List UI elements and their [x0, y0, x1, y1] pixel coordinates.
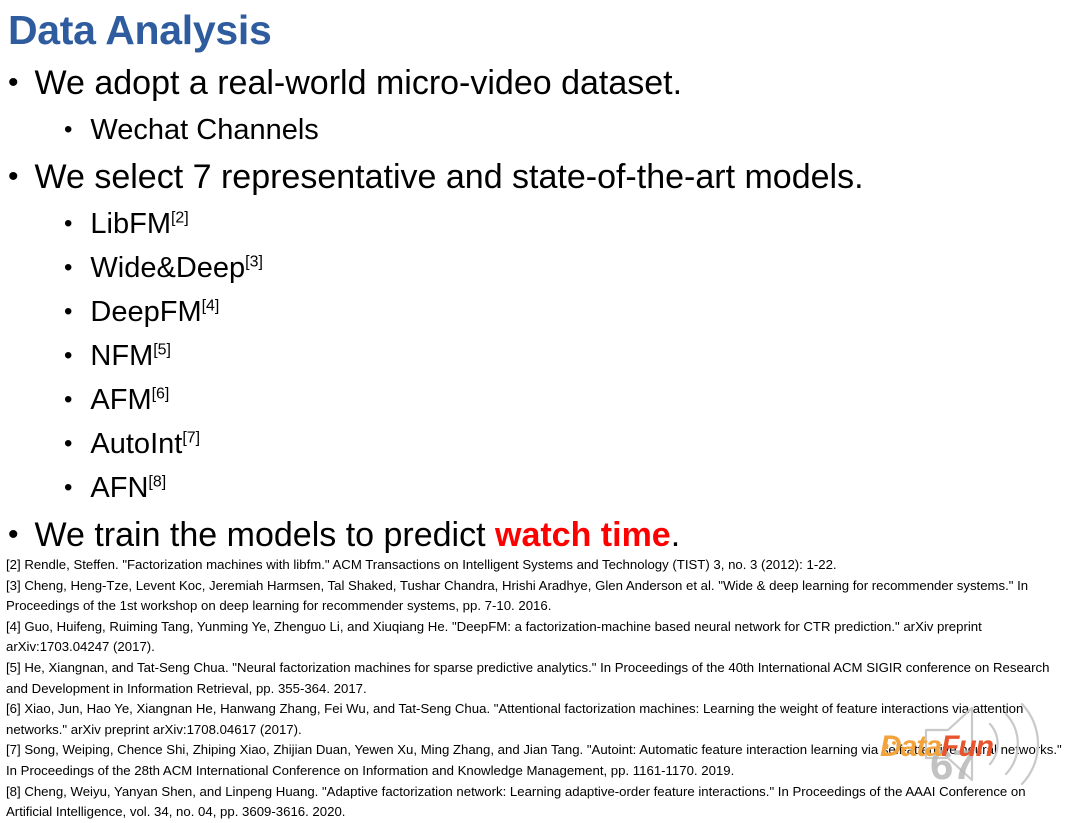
list-item-label: NFM[5]: [90, 340, 171, 373]
reference-item: [2] Rendle, Steffen. "Factorization mach…: [6, 555, 1074, 576]
citation-superscript: [3]: [245, 253, 263, 270]
list-item: • We select 7 representative and state-o…: [0, 158, 1080, 208]
list-item-label: We select 7 representative and state-of-…: [35, 158, 864, 197]
citation-superscript: [4]: [202, 297, 220, 314]
reference-item: [6] Xiao, Jun, Hao Ye, Xiangnan He, Hanw…: [6, 699, 1074, 740]
list-item-label: We adopt a real-world micro-video datase…: [35, 64, 683, 103]
bullet-marker-icon: •: [8, 162, 19, 192]
list-item-label: Wide&Deep[3]: [90, 252, 262, 285]
list-item-label: AFN[8]: [90, 472, 166, 505]
page-title: Data Analysis: [8, 9, 271, 52]
bullet-marker-icon: •: [64, 300, 72, 324]
reference-item: [3] Cheng, Heng-Tze, Levent Koc, Jeremia…: [6, 576, 1074, 617]
bullet-marker-icon: •: [8, 68, 19, 98]
list-item: • AFN[8]: [0, 472, 1080, 516]
list-item: • LibFM[2]: [0, 208, 1080, 252]
reference-item: [5] He, Xiangnan, and Tat-Seng Chua. "Ne…: [6, 658, 1074, 699]
bullet-marker-icon: •: [64, 344, 72, 368]
list-item-label: LibFM[2]: [90, 208, 188, 241]
list-item-label: AFM[6]: [90, 384, 169, 417]
citation-superscript: [5]: [153, 341, 171, 358]
list-item: • Wide&Deep[3]: [0, 252, 1080, 296]
list-item-label: We train the models to predict watch tim…: [35, 516, 681, 555]
reference-item: [8] Cheng, Weiyu, Yanyan Shen, and Linpe…: [6, 782, 1074, 823]
highlight-watch-time: watch time: [495, 516, 671, 554]
bullet-marker-icon: •: [64, 256, 72, 280]
bullet-marker-icon: •: [64, 118, 72, 142]
reference-item: [7] Song, Weiping, Chence Shi, Zhiping X…: [6, 740, 1074, 781]
bullet-marker-icon: •: [64, 476, 72, 500]
list-item-label: Wechat Channels: [90, 114, 318, 147]
list-item: • AFM[6]: [0, 384, 1080, 428]
bullet-list: • We adopt a real-world micro-video data…: [0, 64, 1080, 566]
list-item: • NFM[5]: [0, 340, 1080, 384]
citation-superscript: [2]: [171, 209, 189, 226]
slide-canvas: Data Analysis • We adopt a real-world mi…: [0, 0, 1080, 810]
list-item: • Wechat Channels: [0, 114, 1080, 158]
list-item-label: DeepFM[4]: [90, 296, 219, 329]
bullet-marker-icon: •: [64, 212, 72, 236]
citation-superscript: [7]: [182, 429, 200, 446]
list-item-label: AutoInt[7]: [90, 428, 200, 461]
reference-item: [4] Guo, Huifeng, Ruiming Tang, Yunming …: [6, 617, 1074, 658]
bullet-marker-icon: •: [8, 520, 19, 550]
citation-superscript: [6]: [152, 385, 170, 402]
list-item: • We adopt a real-world micro-video data…: [0, 64, 1080, 114]
bullet-marker-icon: •: [64, 432, 72, 456]
list-item: • AutoInt[7]: [0, 428, 1080, 472]
list-item: • DeepFM[4]: [0, 296, 1080, 340]
reference-list: [2] Rendle, Steffen. "Factorization mach…: [6, 555, 1074, 823]
bullet-marker-icon: •: [64, 388, 72, 412]
citation-superscript: [8]: [148, 473, 166, 490]
